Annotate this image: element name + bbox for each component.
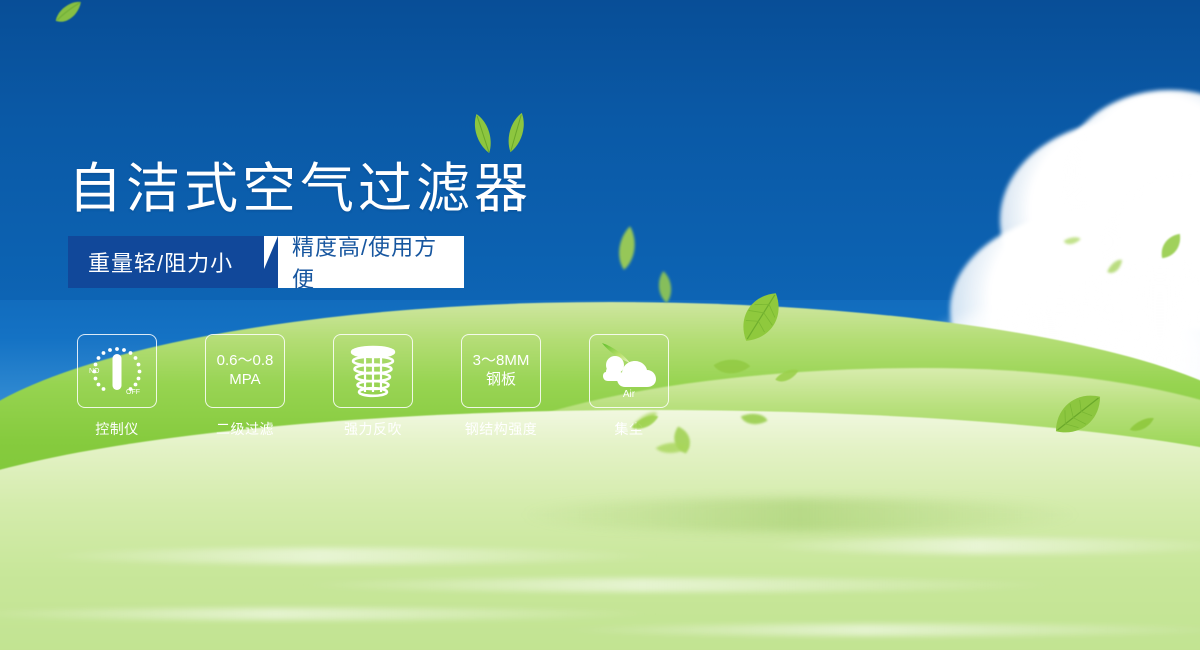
pressure-text-icon: 0.6～0.8 MPA (205, 334, 285, 408)
svg-text:NO: NO (89, 368, 100, 375)
thickness-value: 3～8MM (473, 352, 530, 371)
feature-label: 钢结构强度 (465, 419, 538, 439)
cloud-sun-icon: Air (589, 334, 669, 408)
subtitle-left-panel: 重量轻/阻力小 (68, 236, 264, 288)
subtitle-right-text: 精度高/使用方便 (292, 230, 446, 294)
subtitle-right-panel: 精度高/使用方便 (264, 236, 464, 288)
feature-label: 强力反吹 (344, 419, 402, 439)
hero-banner: 自洁式空气过滤器 重量轻/阻力小 精度高/使用方便 (0, 0, 1200, 650)
feature-item-steel-strength[interactable]: 3～8MM 钢板 钢结构强度 (456, 334, 546, 439)
gauge-dial-icon: NO OFF (77, 334, 157, 408)
thickness-material: 钢板 (486, 371, 516, 390)
pressure-unit: MPA (229, 371, 260, 390)
thickness-text-icon: 3～8MM 钢板 (461, 334, 541, 408)
page-title: 自洁式空气过滤器 (68, 144, 532, 223)
coil-stack-icon (333, 334, 413, 408)
grass-field-near (0, 410, 1200, 650)
feature-item-dust-collection[interactable]: Air 集尘 (584, 334, 674, 439)
air-label: Air (623, 389, 636, 399)
feature-item-backwash[interactable]: 强力反吹 (328, 334, 418, 439)
feature-list: NO OFF 控制仪 0.6～0.8 MPA 二级过滤 (72, 334, 674, 439)
feature-label: 集尘 (615, 419, 644, 439)
svg-text:OFF: OFF (126, 389, 140, 396)
feature-item-controller[interactable]: NO OFF 控制仪 (72, 334, 162, 439)
pressure-value: 0.6～0.8 (217, 352, 274, 371)
feature-item-two-stage-filter[interactable]: 0.6～0.8 MPA 二级过滤 (200, 334, 290, 439)
feature-label: 控制仪 (95, 419, 139, 439)
feature-label: 二级过滤 (216, 419, 274, 439)
subtitle-bar: 重量轻/阻力小 精度高/使用方便 (68, 236, 464, 288)
subtitle-left-text: 重量轻/阻力小 (88, 246, 233, 278)
